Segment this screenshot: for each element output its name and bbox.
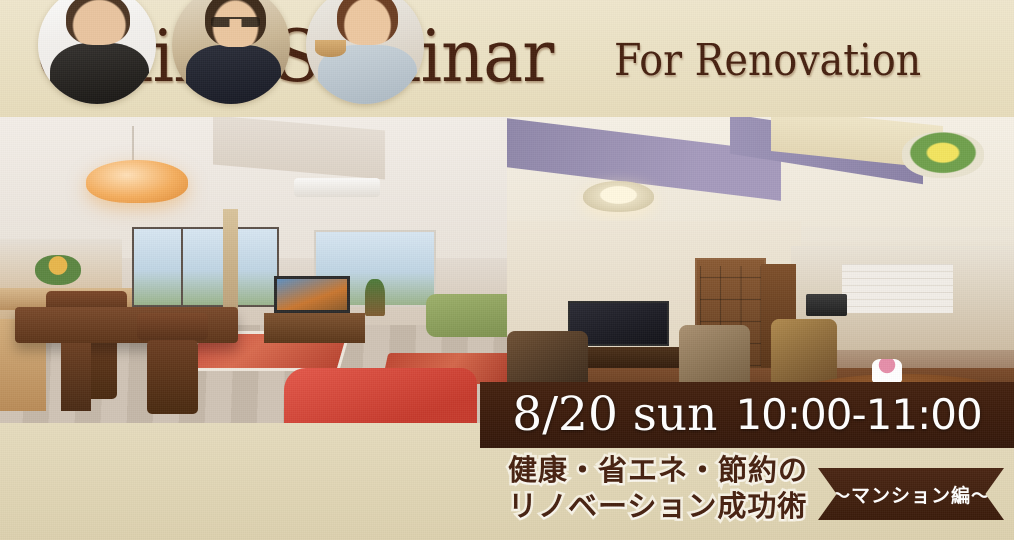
photo-right-classic-ldk <box>507 117 1014 423</box>
seminar-time: 10:00-11:00 <box>735 392 981 438</box>
photo-strip <box>0 117 1014 423</box>
avatar-presenter-3 <box>306 0 424 104</box>
date-time-bar: 8/20 sun 10:00-11:00 <box>480 382 1014 448</box>
avatar-presenter-1 <box>38 0 156 104</box>
catch-copy-line-1: 健康・省エネ・節約の <box>508 452 808 488</box>
seminar-date: 8/20 sun <box>512 390 717 440</box>
edition-ribbon-label: 〜マンション編〜 <box>831 481 991 508</box>
edition-ribbon: 〜マンション編〜 <box>818 468 1004 520</box>
photo-left-modern-ldk <box>0 117 507 423</box>
seminar-poster: Online Seminar For Renovation <box>0 0 1014 540</box>
page-subtitle: For Renovation <box>614 37 921 85</box>
avatar-presenter-2 <box>172 0 290 104</box>
catch-copy: 健康・省エネ・節約の リノベーション成功術 <box>508 452 808 524</box>
glasses-icon <box>211 17 261 28</box>
basket-decor <box>315 40 346 57</box>
presenter-portraits <box>38 0 424 104</box>
catch-copy-line-2: リノベーション成功術 <box>508 488 808 524</box>
